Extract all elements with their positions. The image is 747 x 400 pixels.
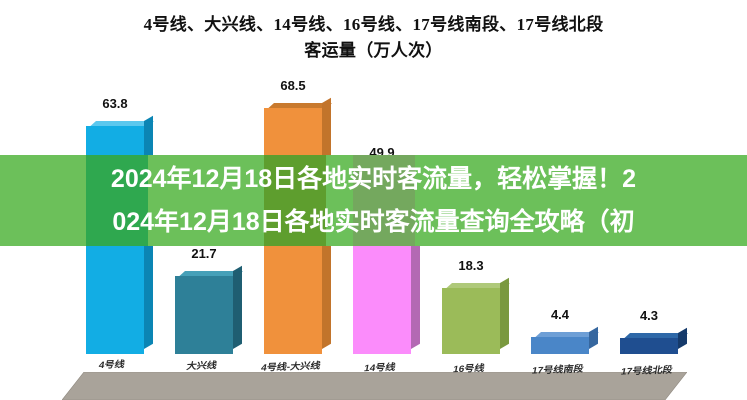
banner-text-line-1: 2024年12月18日各地实时客流量，轻松掌握！2 [111,158,636,201]
bar-6-side [589,327,598,349]
bar-value-label-5: 18.3 [426,258,516,273]
bar-7-side [678,328,687,349]
bar-7 [620,338,678,354]
chart-title-line-1: 4号线、大兴线、14号线、16号线、17号线南段、17号线北段 [144,15,604,34]
banner-text: 2024年12月18日各地实时客流量，轻松掌握！2 024年12月18日各地实时… [0,155,747,246]
chart-title: 4号线、大兴线、14号线、16号线、17号线南段、17号线北段 客运量（万人次） [0,12,747,64]
bar-5 [442,288,500,354]
bar-2-side [233,266,242,349]
bar-5-side [500,278,509,349]
bar-value-label-7: 4.3 [604,308,694,323]
bar-2-front [175,276,233,354]
overlay-banner: 2024年12月18日各地实时客流量，轻松掌握！2 024年12月18日各地实时… [0,155,747,246]
bar-value-label-3: 68.5 [248,78,338,93]
chart-canvas: 4号线、大兴线、14号线、16号线、17号线南段、17号线北段 客运量（万人次）… [0,0,747,400]
bar-value-label-1: 63.8 [70,96,160,111]
banner-text-line-2: 024年12月18日各地实时客流量查询全攻略（初 [112,201,634,244]
bar-5-front [442,288,500,354]
bar-7-front [620,338,678,354]
bar-2 [175,276,233,354]
bar-value-label-2: 21.7 [159,246,249,261]
chart-title-line-2: 客运量（万人次） [0,38,747,64]
bar-6 [531,337,589,354]
bar-value-label-6: 4.4 [515,307,605,322]
bar-6-front [531,337,589,354]
